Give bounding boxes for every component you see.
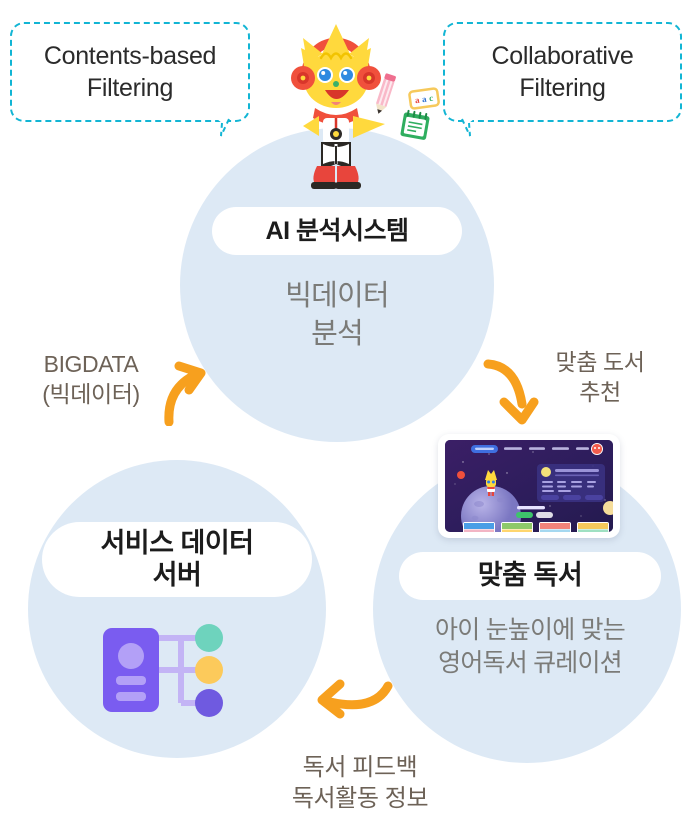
arrow-label-feedback: 독서 피드백 독서활동 정보 bbox=[240, 752, 480, 814]
green-notepad-icon bbox=[400, 110, 430, 140]
bubble-contents-based-filtering: Contents-based Filtering bbox=[10, 22, 250, 122]
node-caption-reading: 아이 눈높이에 맞는 영어독서 큐레이션 bbox=[391, 614, 669, 679]
pencil-icon bbox=[373, 73, 396, 115]
bubble-collaborative-filtering: Collaborative Filtering bbox=[443, 22, 682, 122]
tablet-device bbox=[438, 434, 620, 538]
node-dot-teal bbox=[195, 624, 223, 652]
node-dot-purple bbox=[195, 689, 223, 717]
bubble-left-label: Contents-based Filtering bbox=[44, 40, 216, 104]
abc-card-icon: a a c bbox=[409, 88, 439, 109]
node-title-server: 서비스 데이터 서버 bbox=[42, 522, 312, 597]
bubble-right-tail-icon bbox=[450, 118, 476, 140]
arrow-label-recommendation: 맞춤 도서 추천 bbox=[520, 348, 680, 408]
server-node-diagram-icon bbox=[95, 618, 235, 723]
tablet-screen-art bbox=[445, 440, 613, 532]
diagram-canvas: AI 분석시스템 서비스 데이터 서버 맞춤 독서 빅데이터 분석 아이 눈높이… bbox=[0, 0, 692, 838]
bubble-left-tail-icon bbox=[215, 118, 241, 140]
node-title-ai: AI 분석시스템 bbox=[212, 207, 462, 255]
floating-study-items: a a c bbox=[370, 70, 450, 140]
node-title-reading: 맞춤 독서 bbox=[399, 552, 661, 600]
curved-arrow-left-icon bbox=[300, 678, 395, 733]
bubble-right-label: Collaborative Filtering bbox=[491, 40, 633, 104]
tablet-screen bbox=[445, 440, 613, 532]
arrow-label-bigdata: BIGDATA (빅데이터) bbox=[6, 350, 176, 410]
node-dot-yellow bbox=[195, 656, 223, 684]
node-caption-ai: 빅데이터 분석 bbox=[214, 278, 460, 353]
